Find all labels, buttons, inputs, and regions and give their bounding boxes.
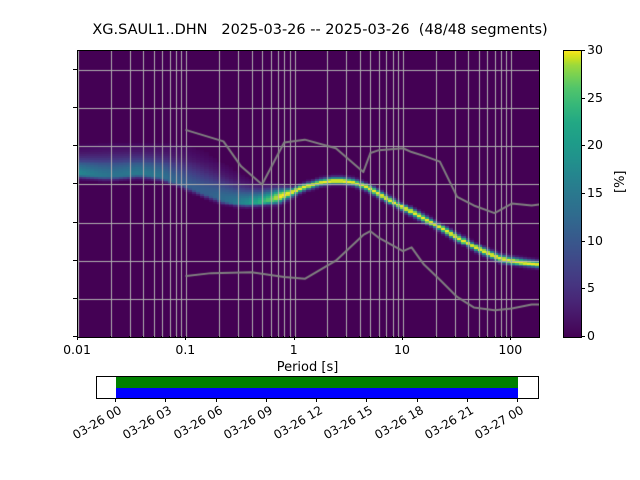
x-tick-mark-minor xyxy=(500,336,501,338)
colorbar-tick-label: 0 xyxy=(587,328,595,343)
timeline-tick-mark xyxy=(266,398,267,402)
x-tick-mark-minor xyxy=(289,336,290,338)
colorbar-label: [%] xyxy=(613,171,628,194)
timeline-tick-mark xyxy=(165,398,166,402)
timeline-tick-label: 03-26 09 xyxy=(214,403,275,446)
x-tick-mark-minor xyxy=(110,336,111,338)
timeline-tick-label: 03-27 00 xyxy=(465,403,526,446)
timeline-tick-mark xyxy=(517,398,518,402)
x-tick-mark-minor xyxy=(494,336,495,338)
x-tick-mark-minor xyxy=(454,336,455,338)
timeline-tick-label: 03-26 21 xyxy=(415,403,476,446)
x-tick-mark-minor xyxy=(505,336,506,338)
page-title: XG.SAUL1..DHN 2025-03-26 -- 2025-03-26 (… xyxy=(0,22,640,38)
x-tick-mark-minor xyxy=(261,336,262,338)
timeline-tick-mark xyxy=(467,398,468,402)
colorbar-tick-mark xyxy=(581,288,585,289)
timeline-tick-label: 03-26 06 xyxy=(164,403,225,446)
x-tick-mark-minor xyxy=(175,336,176,338)
y-tick-mark xyxy=(73,69,77,70)
x-tick-mark-minor xyxy=(129,336,130,338)
coverage-bar-green xyxy=(116,377,518,388)
x-tick-mark-major xyxy=(77,336,78,340)
timeline-tick-label: 03-26 18 xyxy=(365,403,426,446)
y-tick-mark xyxy=(73,183,77,184)
y-tick-mark xyxy=(73,298,77,299)
x-tick-mark-minor xyxy=(397,336,398,338)
x-tick-mark-minor xyxy=(153,336,154,338)
y-tick-mark xyxy=(73,260,77,261)
ppsd-plot-area[interactable] xyxy=(77,50,540,338)
x-tick-mark-major xyxy=(294,336,295,340)
colorbar-tick-mark xyxy=(581,193,585,194)
timeline-tick-mark xyxy=(366,398,367,402)
x-tick-mark-minor xyxy=(142,336,143,338)
x-tick-mark-minor xyxy=(435,336,436,338)
y-tick-mark xyxy=(73,222,77,223)
x-tick-mark-minor xyxy=(369,336,370,338)
coverage-bar-blue xyxy=(116,388,518,399)
colorbar-tick-mark xyxy=(581,241,585,242)
x-tick-label: 1 xyxy=(254,342,334,357)
colorbar-tick-mark xyxy=(581,145,585,146)
timeline-tick-label: 03-26 03 xyxy=(114,403,175,446)
timeline-tick-label: 03-26 12 xyxy=(264,403,325,446)
noise-model-layer xyxy=(78,51,539,337)
timeline-tick-mark xyxy=(115,398,116,402)
x-tick-mark-minor xyxy=(467,336,468,338)
x-tick-mark-minor xyxy=(270,336,271,338)
x-tick-mark-minor xyxy=(392,336,393,338)
x-tick-mark-minor xyxy=(218,336,219,338)
x-tick-mark-minor xyxy=(251,336,252,338)
timeline-tick-mark xyxy=(216,398,217,402)
colorbar-tick-label: 5 xyxy=(587,280,595,295)
colorbar-tick-label: 20 xyxy=(587,137,603,152)
colorbar xyxy=(563,50,582,338)
y-tick-mark xyxy=(73,107,77,108)
x-tick-mark-minor xyxy=(385,336,386,338)
x-tick-mark-major xyxy=(510,336,511,340)
colorbar-tick-label: 15 xyxy=(587,185,603,200)
ppsd-figure: XG.SAUL1..DHN 2025-03-26 -- 2025-03-26 (… xyxy=(0,0,640,480)
x-tick-mark-minor xyxy=(283,336,284,338)
x-tick-mark-minor xyxy=(478,336,479,338)
x-tick-mark-major xyxy=(185,336,186,340)
colorbar-tick-mark xyxy=(581,50,585,51)
x-tick-mark-minor xyxy=(277,336,278,338)
coverage-timeline[interactable] xyxy=(96,376,539,399)
colorbar-tick-mark xyxy=(581,336,585,337)
x-tick-mark-minor xyxy=(169,336,170,338)
x-tick-label: 0.1 xyxy=(145,342,225,357)
colorbar-tick-label: 25 xyxy=(587,90,603,105)
x-tick-label: 100 xyxy=(470,342,550,357)
colorbar-tick-mark xyxy=(581,98,585,99)
x-tick-label: 10 xyxy=(362,342,442,357)
y-tick-mark xyxy=(73,145,77,146)
timeline-tick-mark xyxy=(417,398,418,402)
x-tick-mark-minor xyxy=(180,336,181,338)
x-tick-mark-minor xyxy=(359,336,360,338)
x-tick-label: 0.01 xyxy=(37,342,117,357)
x-tick-mark-minor xyxy=(345,336,346,338)
x-tick-mark-minor xyxy=(326,336,327,338)
timeline-tick-label: 03-26 00 xyxy=(63,403,124,446)
x-tick-mark-minor xyxy=(378,336,379,338)
x-tick-mark-minor xyxy=(161,336,162,338)
x-axis-label: Period [s] xyxy=(77,360,538,375)
timeline-tick-label: 03-26 15 xyxy=(315,403,376,446)
x-tick-mark-minor xyxy=(237,336,238,338)
colorbar-tick-label: 10 xyxy=(587,233,603,248)
x-tick-mark-major xyxy=(402,336,403,340)
x-tick-mark-minor xyxy=(486,336,487,338)
timeline-tick-mark xyxy=(316,398,317,402)
colorbar-tick-label: 30 xyxy=(587,42,603,57)
